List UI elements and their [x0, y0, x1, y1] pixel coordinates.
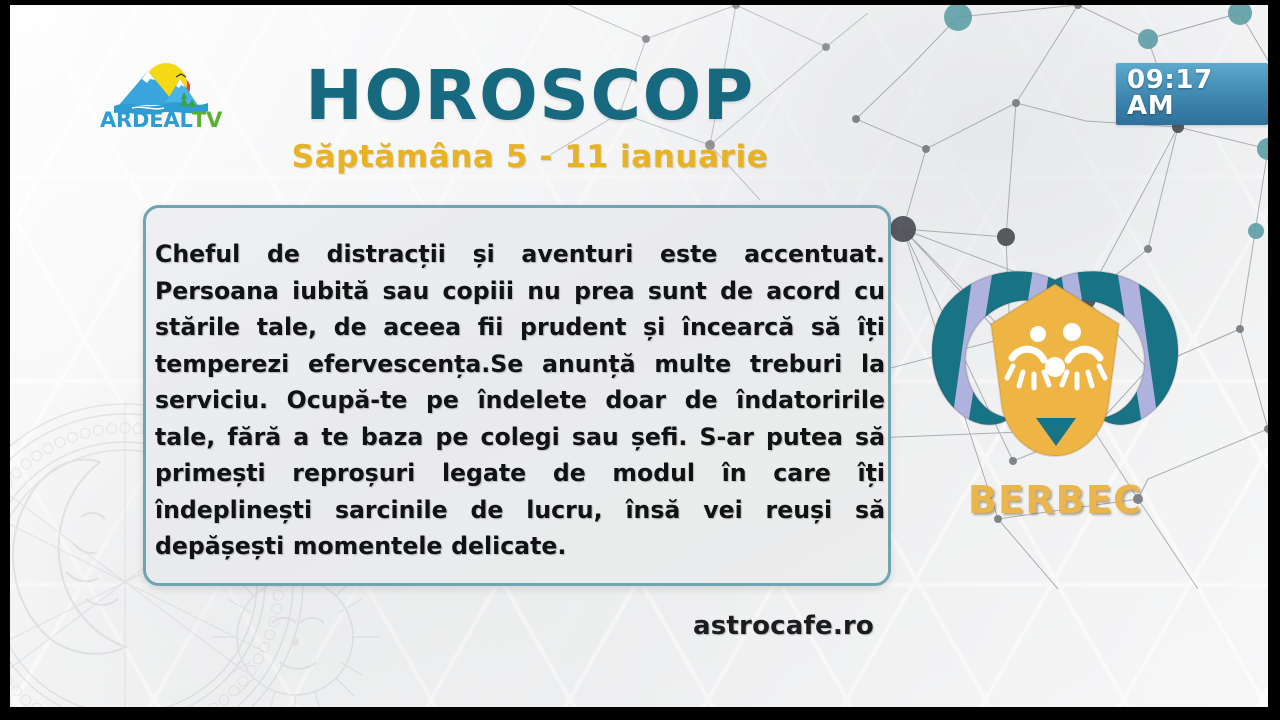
zodiac-sign-block: BERBEC — [912, 250, 1198, 540]
broadcast-screen: ARDEAL TV HOROSCOP Săptămâna 5 - 11 ianu… — [0, 0, 1280, 720]
broadcast-canvas: ARDEAL TV HOROSCOP Săptămâna 5 - 11 ianu… — [10, 5, 1268, 707]
aries-ram-icon — [912, 250, 1198, 485]
logo-text-tv: TV — [192, 108, 223, 131]
horoscope-body-text: Cheful de distracții și aventuri este ac… — [155, 236, 885, 565]
headline-block: HOROSCOP Săptămâna 5 - 11 ianuarie — [270, 63, 790, 175]
page-title: HOROSCOP — [270, 63, 790, 129]
zodiac-sign-name: BERBEC — [912, 478, 1198, 522]
letterbox-left — [0, 0, 10, 720]
horoscope-panel: Cheful de distracții și aventuri este ac… — [143, 205, 891, 586]
ardeal-tv-logo-icon[interactable]: ARDEAL TV — [92, 53, 242, 131]
letterbox-top — [0, 0, 1280, 5]
page-subtitle: Săptămâna 5 - 11 ianuarie — [270, 139, 790, 175]
clock-badge: 09:17 AM — [1116, 63, 1268, 125]
source-credit: astrocafe.ro — [693, 611, 874, 641]
letterbox-bottom — [0, 707, 1280, 720]
logo-text-ardeal: ARDEAL — [100, 108, 193, 131]
letterbox-right — [1268, 0, 1280, 720]
